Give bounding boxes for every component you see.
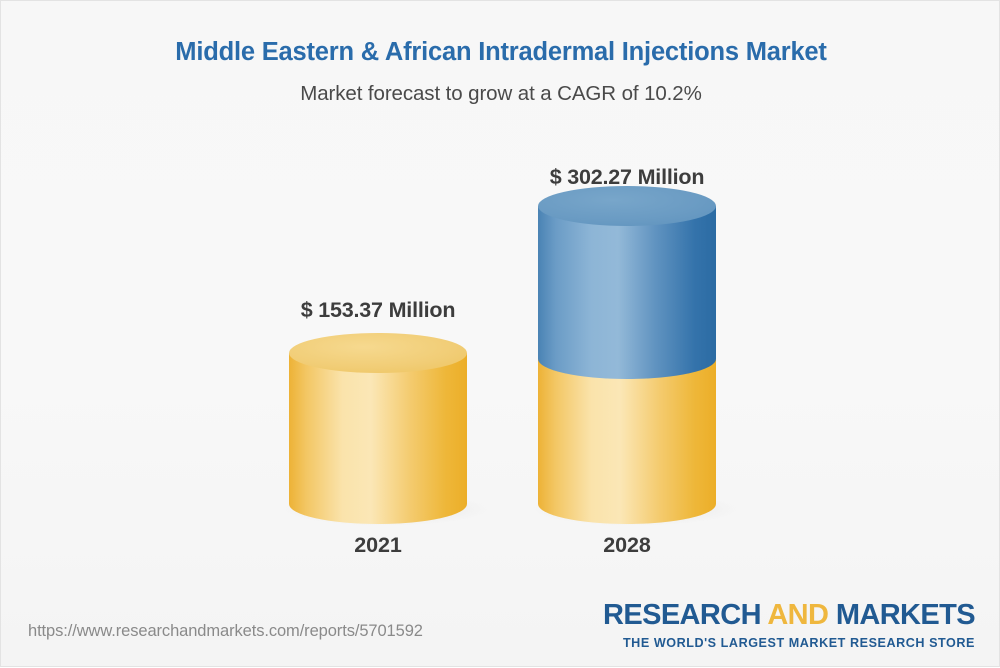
bar-cylinder-2021[interactable] <box>281 333 491 526</box>
category-label-2028: 2028 <box>527 533 727 558</box>
value-label-2021: $ 153.37 Million <box>278 298 478 323</box>
report-url[interactable]: https://www.researchandmarkets.com/repor… <box>28 622 423 641</box>
brand-logo[interactable]: RESEARCH AND MARKETS THE WORLD'S LARGEST… <box>603 601 975 650</box>
chart-subtitle: Market forecast to grow at a CAGR of 10.… <box>1 82 1000 106</box>
bar-2021-top <box>289 333 467 373</box>
bar-2028-base-body <box>538 359 716 524</box>
chart-card: Middle Eastern & African Intradermal Inj… <box>0 0 1000 667</box>
brand-word-markets: MARKETS <box>836 599 975 631</box>
page-title: Middle Eastern & African Intradermal Inj… <box>1 37 1000 68</box>
brand-tagline: THE WORLD'S LARGEST MARKET RESEARCH STOR… <box>603 637 975 650</box>
brand-wordmark: RESEARCH AND MARKETS <box>603 601 975 630</box>
brand-word-research: RESEARCH <box>603 599 767 631</box>
bar-2028-top <box>538 186 716 226</box>
bar-cylinder-2028[interactable] <box>530 186 740 526</box>
bar-2028-growth-body <box>538 206 716 379</box>
brand-word-and: AND <box>767 599 836 631</box>
chart-header: Middle Eastern & African Intradermal Inj… <box>1 37 1000 106</box>
category-label-2021: 2021 <box>278 533 478 558</box>
value-label-2028: $ 302.27 Million <box>527 165 727 190</box>
bar-2021-body <box>289 353 467 524</box>
